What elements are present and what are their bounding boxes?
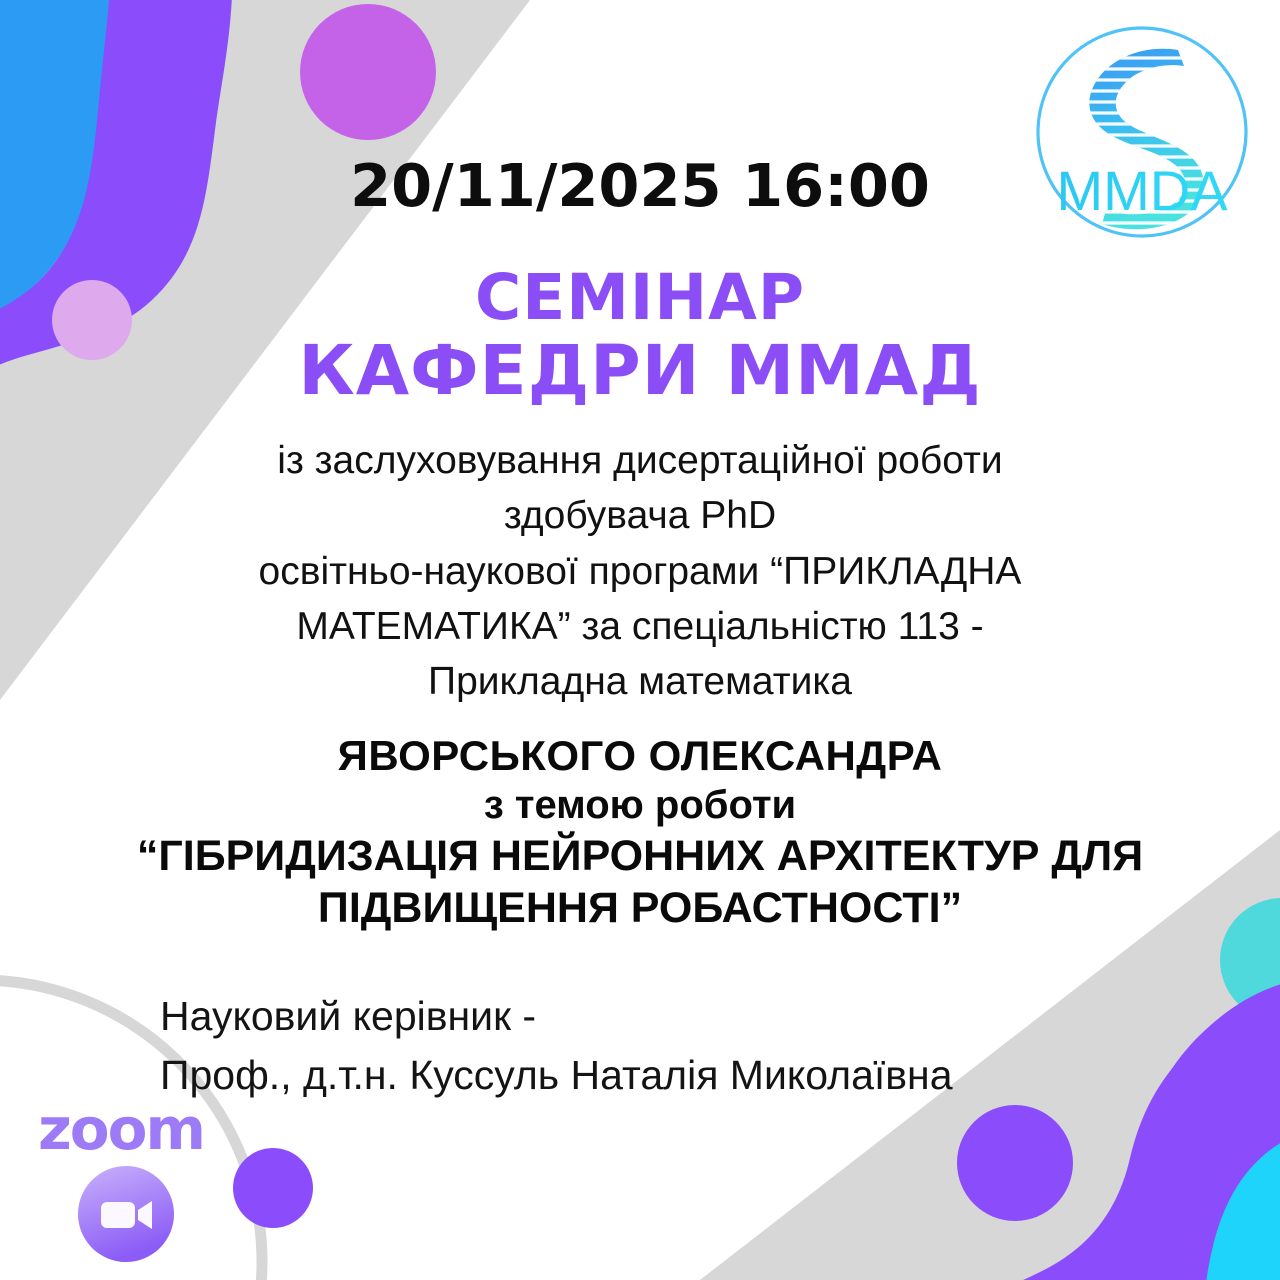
candidate-name: ЯВОРСЬКОГО ОЛЕКСАНДРА [30,730,1250,781]
supervisor-block: Науковий керівник - Проф., д.т.н. Куссул… [130,987,1150,1106]
page-title: СЕМІНАР КАФЕДРИ ММАД [298,263,981,411]
description-line: із заслуховування дисертаційної роботи [160,433,1120,488]
topic-line-2: ПІДВИЩЕННЯ РОБАСТНОСТІ” [30,882,1250,934]
description-line: Прикладна математика [160,654,1120,709]
topic-label: з темою роботи [30,781,1250,830]
event-datetime: 20/11/2025 16:00 [350,155,930,217]
seminar-poster: MMDA zoom 20/11/2025 16:00 [0,0,1280,1280]
candidate-block: ЯВОРСЬКОГО ОЛЕКСАНДРА з темою роботи “ГІ… [30,730,1250,935]
description-block: із заслуховування дисертаційної роботи з… [160,433,1120,710]
description-line: освітньо-наукової програми “ПРИКЛАДНА [160,544,1120,599]
supervisor-label: Науковий керівник - [160,987,1150,1046]
topic-line-1: “ГІБРИДИЗАЦІЯ НЕЙРОННИХ АРХІТЕКТУР ДЛЯ [30,830,1250,882]
headline-line-1: СЕМІНАР [475,261,805,334]
supervisor-name: Проф., д.т.н. Куссуль Наталія Миколаївна [160,1046,1150,1105]
description-line: здобувача PhD [160,488,1120,543]
poster-content: 20/11/2025 16:00 СЕМІНАР КАФЕДРИ ММАД із… [0,0,1280,1280]
headline-line-2: КАФЕДРИ ММАД [298,333,981,410]
description-line: МАТЕМАТИКА” за спеціальністю 113 - [160,599,1120,654]
